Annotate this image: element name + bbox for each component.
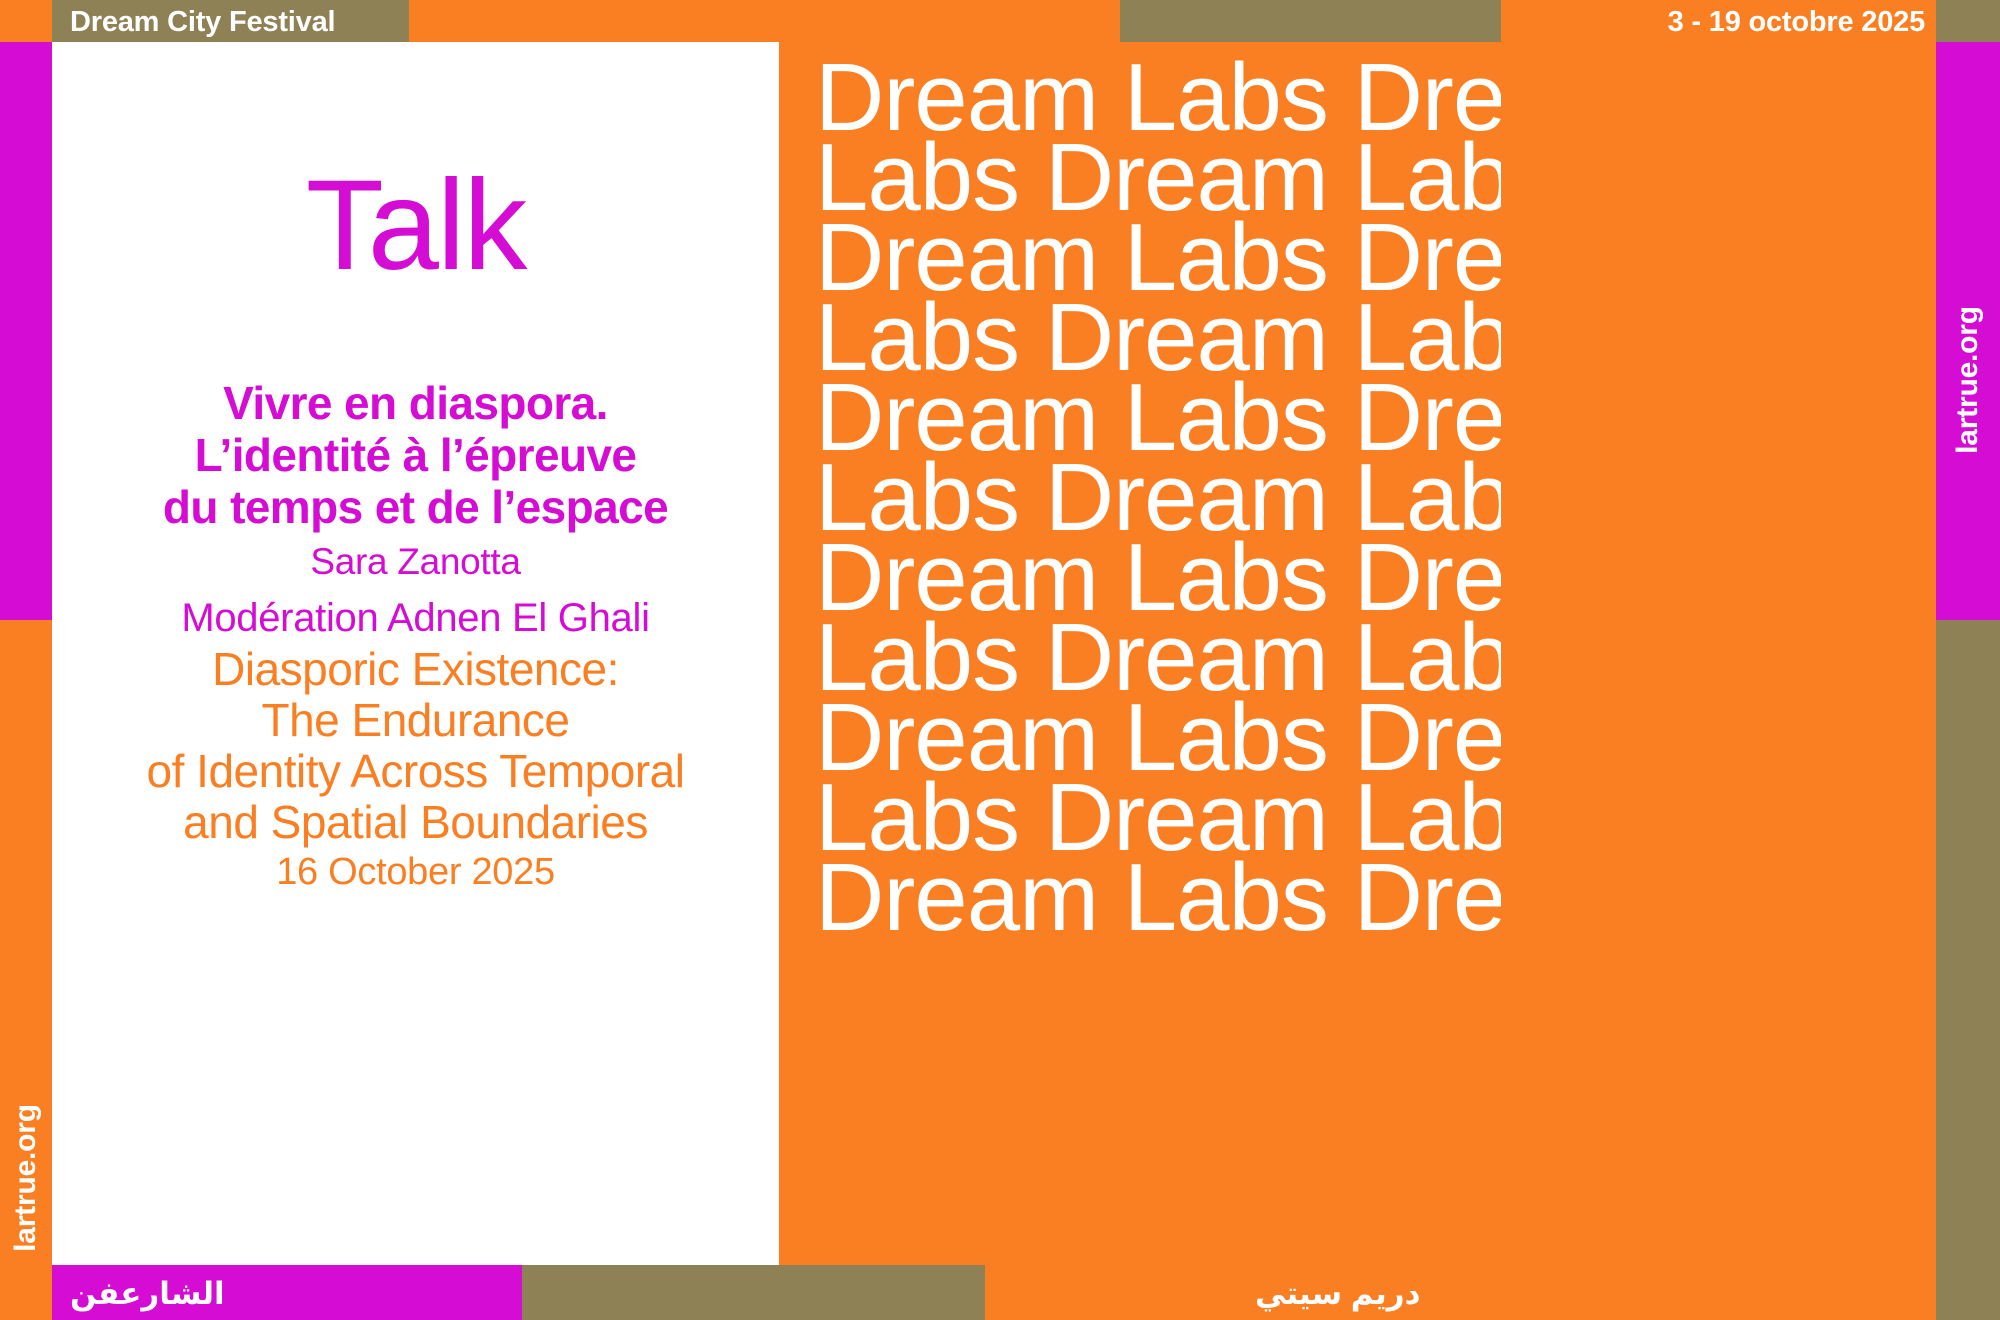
- left-rail: lartrue.org: [0, 0, 52, 1320]
- right-rail: lartrue.org: [1936, 0, 2000, 1320]
- english-title-line: of Identity Across Temporal: [52, 746, 779, 797]
- arabic-organiser-name: الشارعفن: [70, 1272, 225, 1316]
- arabic-festival-name: دريم سيتي: [1255, 1272, 1420, 1316]
- left-rail-magenta-band: [0, 42, 52, 620]
- bottom-bar: الشارعفن دريم سيتي: [0, 1265, 2000, 1320]
- english-title-line: The Endurance: [52, 695, 779, 746]
- english-title-line: Diasporic Existence:: [52, 644, 779, 695]
- bottom-bar-orange-left: [0, 1265, 52, 1320]
- dream-labs-line: Dream Labs Dre: [815, 858, 1501, 938]
- event-date: 16 October 2025: [52, 848, 779, 896]
- speaker-name: Sara Zanotta: [52, 539, 779, 585]
- french-title-line: L’identité à l’épreuve: [52, 429, 779, 481]
- festival-name: Dream City Festival: [70, 3, 335, 41]
- right-rail-website-label: lartrue.org: [1951, 306, 1985, 454]
- french-title-line: Vivre en diaspora.: [52, 377, 779, 429]
- poster-canvas: Dream Labs Dre Labs Dream Lab Dream Labs…: [0, 0, 2000, 1320]
- dream-labs-art-panel: Dream Labs Dre Labs Dream Lab Dream Labs…: [785, 0, 1501, 1268]
- top-bar-olive-right: [1120, 0, 1501, 42]
- page-title: Talk: [52, 162, 779, 290]
- top-bar: Dream City Festival 3 - 19 octobre 2025: [0, 0, 2000, 42]
- right-rail-website[interactable]: lartrue.org: [1936, 250, 2000, 510]
- english-title-line: and Spatial Boundaries: [52, 797, 779, 848]
- english-title: Diasporic Existence: The Endurance of Id…: [52, 644, 779, 848]
- french-title-line: du temps et de l’espace: [52, 481, 779, 533]
- moderator-credit: Modération Adnen El Ghali: [52, 593, 779, 643]
- bottom-bar-orange-band: [985, 1265, 1936, 1320]
- event-info-card: Talk Vivre en diaspora. L’identité à l’é…: [52, 42, 779, 1265]
- festival-dates: 3 - 19 octobre 2025: [1668, 3, 1925, 41]
- dream-labs-lines: Dream Labs Dre Labs Dream Lab Dream Labs…: [815, 58, 1501, 938]
- top-bar-olive-corner: [1936, 0, 2000, 42]
- left-rail-website-label: lartrue.org: [9, 1104, 43, 1252]
- bottom-bar-olive-band: [522, 1265, 785, 1320]
- french-title: Vivre en diaspora. L’identité à l’épreuv…: [52, 377, 779, 533]
- left-rail-website[interactable]: lartrue.org: [0, 1058, 52, 1298]
